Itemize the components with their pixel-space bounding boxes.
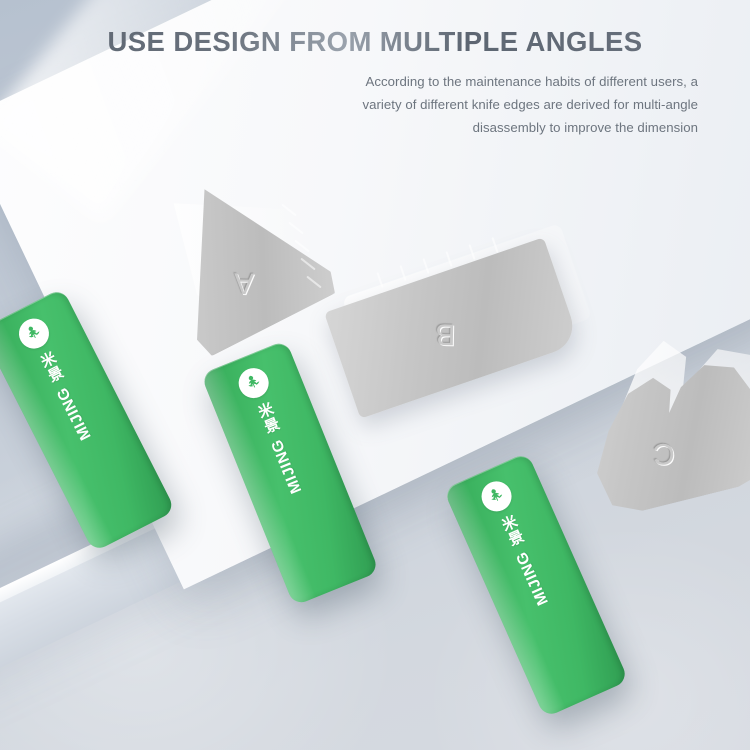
- description-line-2: variety of different knife edges are der…: [288, 93, 698, 116]
- product-marketing-image: A 米景 MIJING: [0, 0, 750, 750]
- description-line-1: According to the maintenance habits of d…: [288, 70, 698, 93]
- brand-english-b: MIJING: [268, 436, 306, 496]
- blade-b-letter: B: [435, 318, 456, 348]
- brand-chinese-a: 米景: [37, 350, 65, 385]
- description-line-3: disassembly to improve the dimension: [288, 116, 698, 139]
- mijing-leaf-logo-icon: [234, 364, 273, 403]
- brand-english-a: MIJING: [54, 384, 96, 443]
- page-title: USE DESIGN FROM MULTIPLE ANGLES: [0, 26, 750, 58]
- brand-english-c: MIJING: [513, 548, 553, 607]
- mijing-leaf-logo-icon: [477, 477, 517, 517]
- brand-chinese-c: 米景: [499, 513, 526, 548]
- blade-c-letter: C: [653, 438, 675, 468]
- tool-c: C 米景 MIJING: [520, 330, 750, 700]
- brand-chinese-b: 米景: [255, 401, 281, 436]
- mijing-leaf-logo-icon: [14, 313, 54, 353]
- page-description: According to the maintenance habits of d…: [288, 70, 698, 139]
